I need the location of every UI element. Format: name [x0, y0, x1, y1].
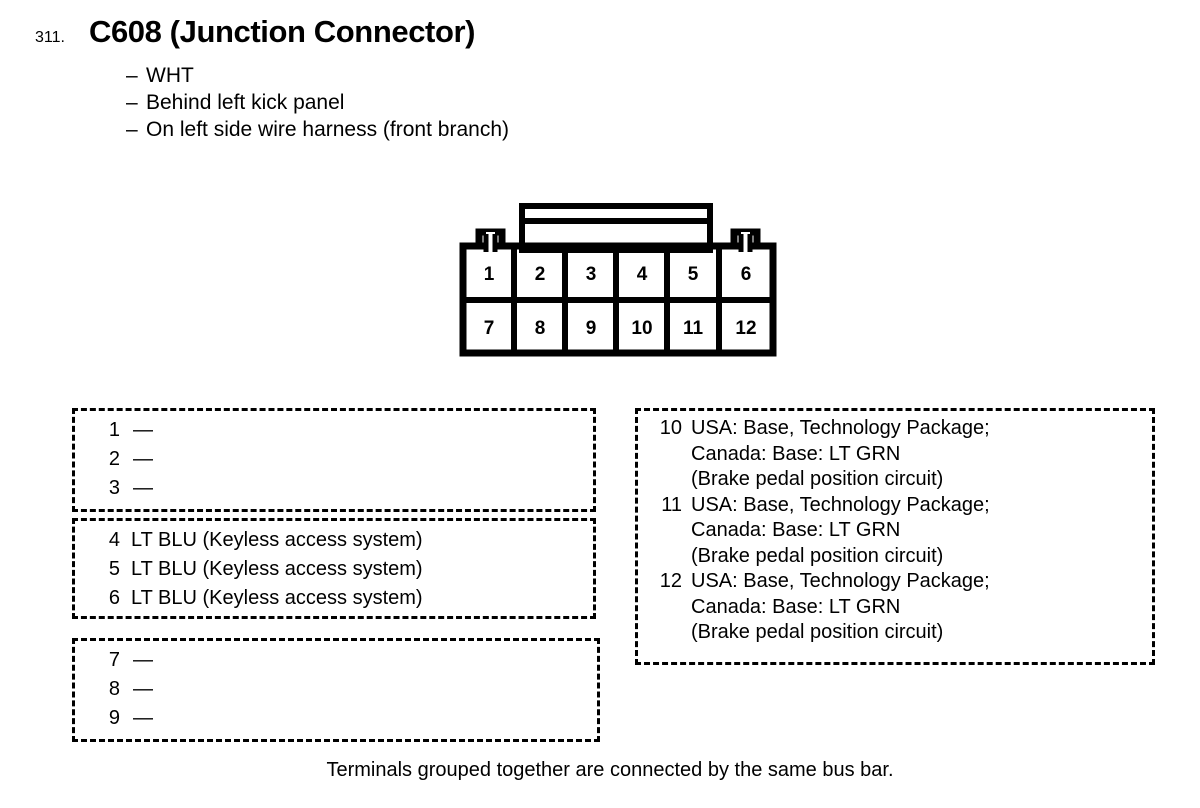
terminal-row: 3 —: [106, 474, 593, 503]
terminal-description: —: [133, 416, 593, 445]
dash-icon: –: [126, 116, 146, 143]
terminal-row: 7 —: [106, 646, 597, 675]
terminal-row: 5 LT BLU (Keyless access system): [106, 555, 593, 584]
terminal-number: 7: [106, 646, 120, 675]
terminal-line: Canada: Base: LT GRN: [691, 442, 1152, 468]
terminal-row: 1 —: [106, 416, 593, 445]
page-title: 311. C608 (Junction Connector): [35, 14, 475, 50]
terminal-row: 10 USA: Base, Technology Package; Canada…: [656, 416, 1152, 493]
terminal-description: USA: Base, Technology Package; Canada: B…: [691, 493, 1152, 570]
dash-icon: –: [126, 89, 146, 116]
terminal-description: LT BLU (Keyless access system): [131, 526, 593, 555]
connector-diagram: 1 2 3 4 5 6 7 8 9 10 11 12: [455, 196, 785, 361]
terminal-group-box: 7 — 8 — 9 —: [72, 638, 600, 742]
terminal-line: Canada: Base: LT GRN: [691, 595, 1152, 621]
page-title-number: 311.: [35, 29, 65, 47]
terminal-description: LT BLU (Keyless access system): [131, 555, 593, 584]
terminal-number: 4: [106, 526, 120, 555]
spec-list-item: – WHT: [126, 62, 509, 89]
terminal-row: 11 USA: Base, Technology Package; Canada…: [656, 493, 1152, 570]
terminal-list: 10 USA: Base, Technology Package; Canada…: [656, 416, 1152, 646]
pin-label: 5: [688, 264, 699, 285]
pin-label: 11: [683, 318, 704, 339]
terminal-description: —: [133, 704, 597, 733]
pin-label: 2: [535, 264, 546, 285]
terminal-description: USA: Base, Technology Package; Canada: B…: [691, 416, 1152, 493]
terminal-group-box: 4 LT BLU (Keyless access system) 5 LT BL…: [72, 518, 596, 619]
terminal-row: 12 USA: Base, Technology Package; Canada…: [656, 569, 1152, 646]
pin-label: 3: [586, 264, 597, 285]
terminal-number: 2: [106, 445, 120, 474]
spec-list-item: – On left side wire harness (front branc…: [126, 116, 509, 143]
terminal-row: 9 —: [106, 704, 597, 733]
pin-label: 9: [586, 318, 597, 339]
terminal-description: —: [133, 646, 597, 675]
connector-pin-row-bottom: 7 8 9 10 11 12: [484, 318, 757, 339]
pin-label: 8: [535, 318, 546, 339]
pin-label: 6: [741, 264, 752, 285]
dash-icon: –: [126, 62, 146, 89]
terminal-number: 9: [106, 704, 120, 733]
terminal-description: —: [133, 474, 593, 503]
pin-label: 4: [637, 264, 648, 285]
terminal-row: 8 —: [106, 675, 597, 704]
page-title-text: C608 (Junction Connector): [89, 14, 475, 50]
terminal-row: 4 LT BLU (Keyless access system): [106, 526, 593, 555]
spec-list: – WHT – Behind left kick panel – On left…: [126, 62, 509, 143]
terminal-number: 8: [106, 675, 120, 704]
spec-list-item-label: Behind left kick panel: [146, 89, 344, 116]
terminal-number: 6: [106, 584, 120, 613]
terminal-number: 10: [656, 416, 682, 442]
terminal-line: (Brake pedal position circuit): [691, 467, 1152, 493]
terminal-number: 1: [106, 416, 120, 445]
footer-note: Terminals grouped together are connected…: [0, 759, 1200, 782]
pin-label: 10: [631, 318, 652, 339]
terminal-line: Canada: Base: LT GRN: [691, 518, 1152, 544]
terminal-line: USA: Base, Technology Package;: [691, 493, 1152, 519]
terminal-group-box: 1 — 2 — 3 —: [72, 408, 596, 512]
terminal-number: 11: [656, 493, 682, 519]
terminal-line: USA: Base, Technology Package;: [691, 569, 1152, 595]
pin-label: 7: [484, 318, 495, 339]
terminal-line: (Brake pedal position circuit): [691, 544, 1152, 570]
spec-list-item-label: WHT: [146, 62, 194, 89]
terminal-list: 7 — 8 — 9 —: [106, 646, 597, 733]
terminal-description: —: [133, 675, 597, 704]
terminal-line: USA: Base, Technology Package;: [691, 416, 1152, 442]
terminal-number: 5: [106, 555, 120, 584]
terminal-row: 2 —: [106, 445, 593, 474]
terminal-line: (Brake pedal position circuit): [691, 620, 1152, 646]
spec-list-item-label: On left side wire harness (front branch): [146, 116, 509, 143]
terminal-list: 4 LT BLU (Keyless access system) 5 LT BL…: [106, 526, 593, 613]
pin-label: 12: [735, 318, 756, 339]
terminal-number: 3: [106, 474, 120, 503]
connector-grid: [463, 246, 773, 353]
terminal-description: LT BLU (Keyless access system): [131, 584, 593, 613]
spec-list-item: – Behind left kick panel: [126, 89, 509, 116]
terminal-row: 6 LT BLU (Keyless access system): [106, 584, 593, 613]
terminal-description: —: [133, 445, 593, 474]
pin-label: 1: [484, 264, 495, 285]
connector-svg: 1 2 3 4 5 6 7 8 9 10 11 12: [455, 196, 785, 361]
terminal-description: USA: Base, Technology Package; Canada: B…: [691, 569, 1152, 646]
terminal-list: 1 — 2 — 3 —: [106, 416, 593, 503]
terminal-number: 12: [656, 569, 682, 595]
terminal-group-box: 10 USA: Base, Technology Package; Canada…: [635, 408, 1155, 665]
